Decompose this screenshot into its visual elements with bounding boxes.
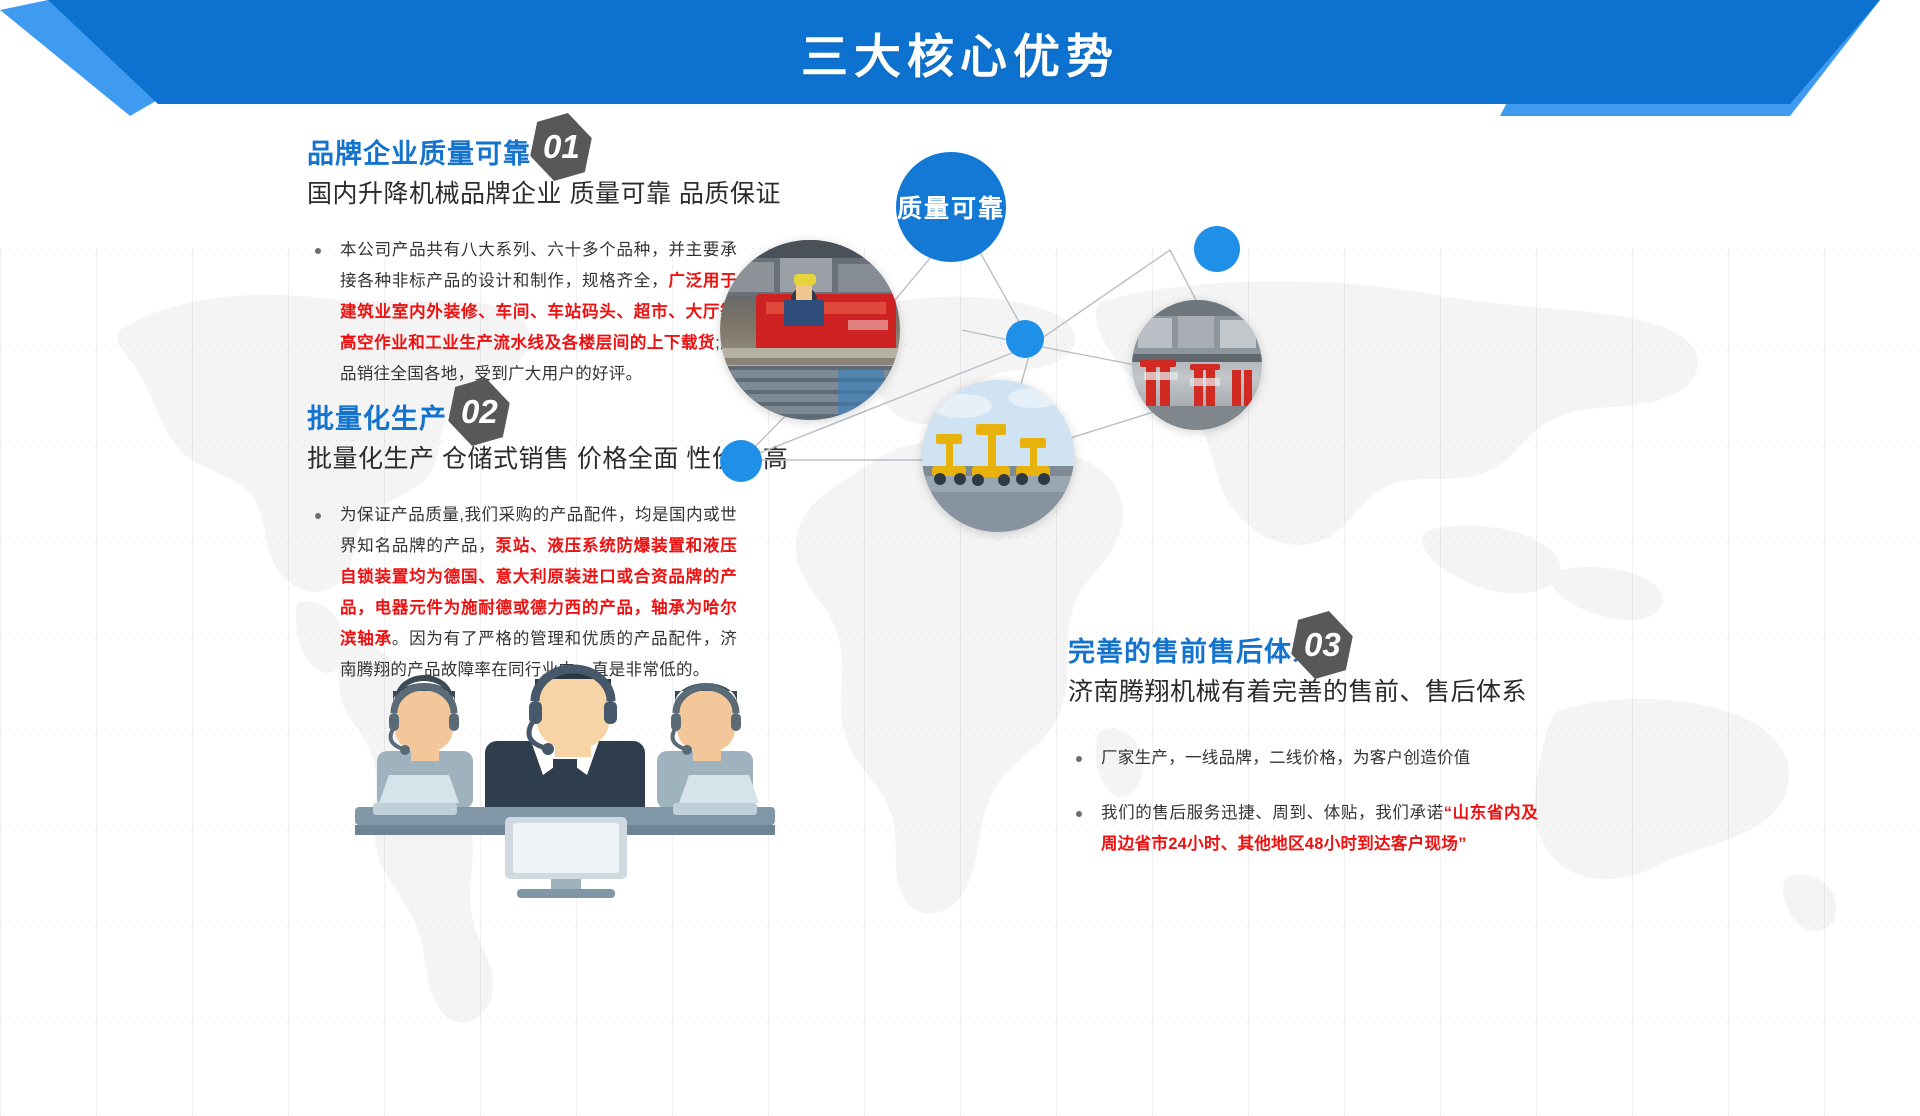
list-item: 厂家生产，一线品牌，二线价格，为客户创造价值 [1068,743,1538,774]
section-01-number-badge: 01 [521,107,600,186]
page-root: 三大核心优势 品牌企业质量可靠 01 国内升降机械品牌企业 质量可靠 品质保证 … [0,0,1920,1116]
list-item: 本公司产品共有八大系列、六十多个品种，并主要承接各种非标产品的设计和制作，规格齐… [307,235,737,390]
bullet-text-plain-2: 我们的售后服务迅捷、周到、体贴，我们承诺 [1101,804,1444,822]
section-03-number-badge: 03 [1282,605,1361,684]
section-01-subtitle: 国内升降机械品牌企业 质量可靠 品质保证 [307,179,737,209]
section-01: 品牌企业质量可靠 01 国内升降机械品牌企业 质量可靠 品质保证 本公司产品共有… [307,140,737,390]
agent-center [485,669,645,825]
section-03-head: 完善的售前售后体系 03 [1068,638,1320,668]
section-03-subtitle: 济南腾翔机械有着完善的售前、售后体系 [1068,677,1538,707]
customer-service-team-illustration [355,655,775,900]
section-03: 完善的售前售后体系 03 济南腾翔机械有着完善的售前、售后体系 厂家生产，一线品… [1068,638,1538,860]
connector-dot-middle [1006,320,1044,358]
list-item: 我们的售后服务迅捷、周到、体贴，我们承诺“山东省内及周边省市24小时、其他地区4… [1068,798,1538,860]
section-03-bullets: 厂家生产，一线品牌，二线价格，为客户创造价值 我们的售后服务迅捷、周到、体贴，我… [1068,743,1538,860]
section-02-title: 批量化生产 [307,405,447,435]
product-network-diagram: 质量可靠 [700,130,1320,550]
section-03-title: 完善的售前售后体系 [1068,638,1320,668]
quality-badge-label: 质量可靠 [897,189,1005,225]
section-02-subtitle: 批量化生产 仓储式销售 价格全面 性价比高 [307,444,737,474]
page-title: 三大核心优势 [0,0,1920,105]
section-01-title: 品牌企业质量可靠 [307,140,531,170]
section-01-head: 品牌企业质量可靠 01 [307,140,531,170]
connector-dot-right [1194,226,1240,272]
photo-node-factory[interactable] [720,240,900,420]
connector-dot-left [720,440,762,482]
quality-badge-circle: 质量可靠 [896,152,1006,262]
section-02-head: 批量化生产 02 [307,405,447,435]
page-banner: 三大核心优势 [0,0,1920,116]
bullet-text-plain-1: 厂家生产，一线品牌，二线价格，为客户创造价值 [1101,749,1471,767]
section-01-bullets: 本公司产品共有八大系列、六十多个品种，并主要承接各种非标产品的设计和制作，规格齐… [307,235,737,390]
photo-node-storefront[interactable] [1132,300,1262,430]
section-02: 批量化生产 02 批量化生产 仓储式销售 价格全面 性价比高 为保证产品质量,我… [307,405,737,686]
photo-node-aerial-platform[interactable] [922,380,1074,532]
